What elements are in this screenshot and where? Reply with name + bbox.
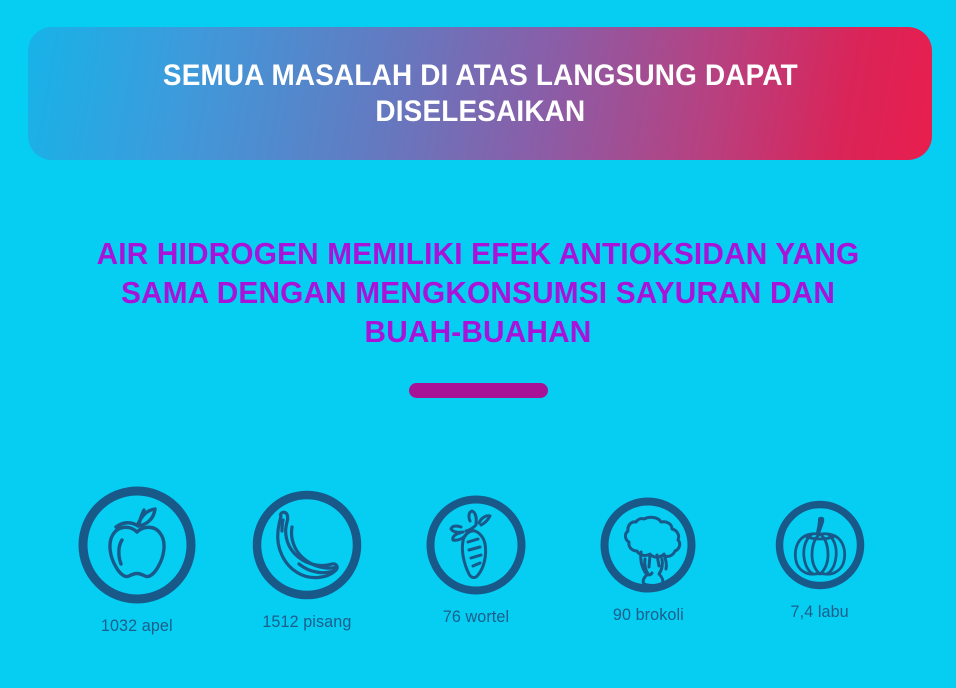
- carrot-icon: [426, 495, 526, 595]
- icon-label-banana: 1512 pisang: [262, 612, 351, 632]
- icon-cell-apple: 1032 apel: [78, 486, 196, 636]
- icon-label-apple: 1032 apel: [101, 616, 173, 636]
- header-banner: SEMUA MASALAH DI ATAS LANGSUNG DAPAT DIS…: [28, 27, 932, 160]
- divider-bar: [409, 383, 548, 398]
- icon-cell-banana: 1512 pisang: [252, 490, 362, 632]
- icon-cell-broccoli: 90 brokoli: [600, 497, 696, 625]
- icon-label-broccoli: 90 brokoli: [613, 605, 684, 625]
- icon-cell-carrot: 76 wortel: [426, 495, 526, 627]
- equivalence-icon-row: 1032 apel 1512 pisang: [0, 480, 956, 650]
- icon-label-carrot: 76 wortel: [443, 607, 509, 627]
- pumpkin-icon: [775, 500, 865, 590]
- banana-icon: [252, 490, 362, 600]
- broccoli-icon: [600, 497, 696, 593]
- apple-icon: [78, 486, 196, 604]
- main-headline: AIR HIDROGEN MEMILIKI EFEK ANTIOKSIDAN Y…: [46, 234, 910, 351]
- icon-label-pumpkin: 7,4 labu: [791, 602, 849, 622]
- icon-cell-pumpkin: 7,4 labu: [775, 500, 865, 622]
- banner-title: SEMUA MASALAH DI ATAS LANGSUNG DAPAT DIS…: [163, 58, 798, 130]
